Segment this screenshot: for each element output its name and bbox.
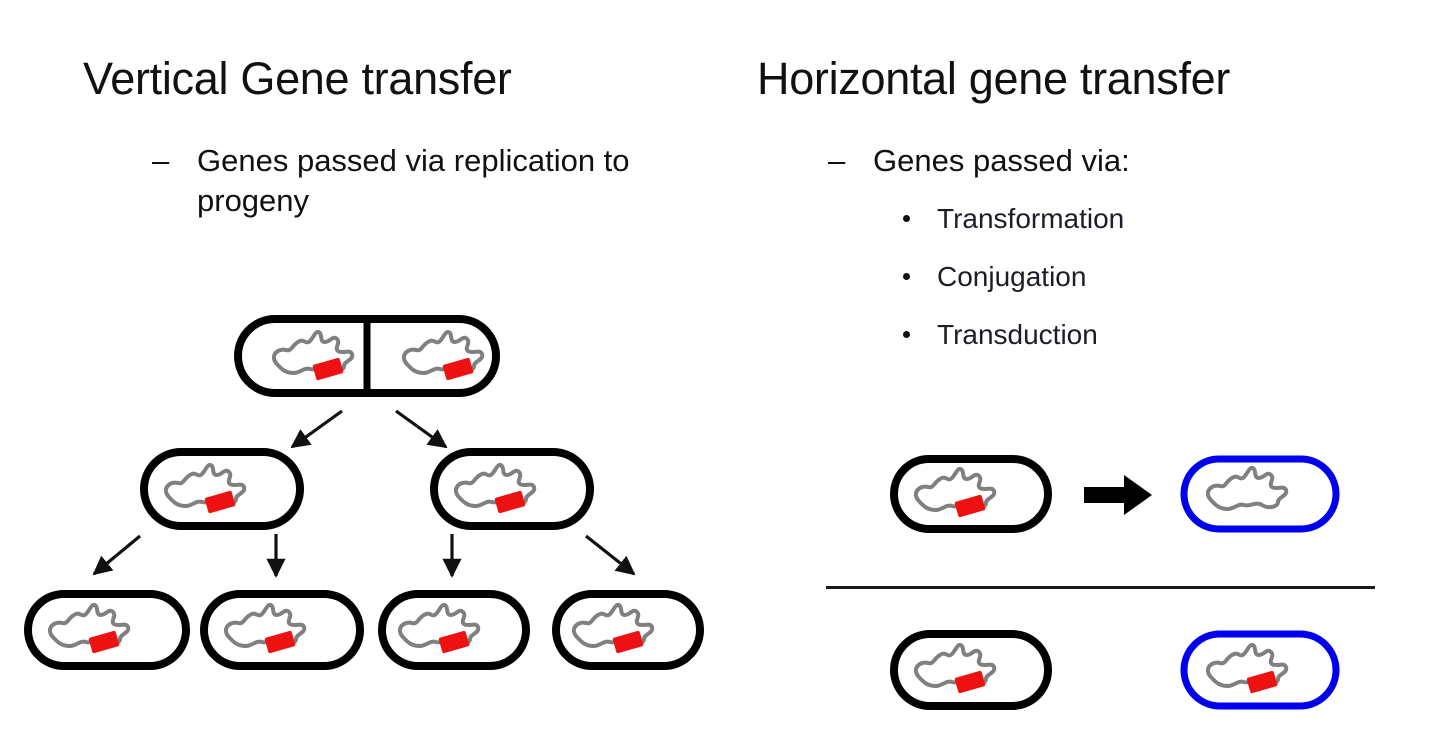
arrow-daughter-left-to-progeny-1: [82, 532, 152, 586]
recipient-after-svg: [1180, 630, 1340, 710]
bullet-label: Transformation: [937, 202, 1124, 236]
arrow-shape: [1084, 475, 1152, 515]
arrow-daughter-right-to-progeny-3: [440, 532, 464, 586]
bacterium-daughter-cell-left: [140, 448, 304, 530]
progeny-2-svg: [200, 590, 364, 670]
bullet-dot-icon: [903, 273, 910, 280]
bacterium-recipient-cell-after: [1180, 630, 1340, 710]
hgt-dash-label: Genes passed via:: [873, 141, 1130, 181]
bacterium-progeny-cell-1: [24, 590, 190, 670]
bullet-dot-icon: [903, 331, 910, 338]
bacterium-progeny-cell-2: [200, 590, 364, 670]
hgt-dash-bullet: – Genes passed via:: [828, 141, 1288, 181]
progeny-4-svg: [552, 590, 704, 670]
bacterium-progeny-cell-3: [378, 590, 530, 670]
donor-before-svg: [890, 455, 1052, 533]
slide-canvas: Vertical Gene transfer – Genes passed vi…: [0, 0, 1440, 748]
page-title-vertical-gene-transfer: Vertical Gene transfer: [83, 53, 512, 105]
list-item-transformation: Transformation: [903, 202, 1124, 236]
cell-wall-outline: [382, 594, 526, 666]
hgt-divider-rule: [826, 586, 1375, 589]
progeny-3-svg: [378, 590, 530, 670]
bacterium-donor-cell-before: [890, 455, 1052, 533]
progeny-1-svg: [24, 590, 190, 670]
bacterium-donor-cell-after: [890, 630, 1052, 710]
bacterium-progeny-cell-4: [552, 590, 704, 670]
dash-marker-icon: –: [828, 141, 845, 181]
bacterium-daughter-cell-right: [430, 448, 594, 530]
bullet-label: Transduction: [937, 318, 1098, 352]
list-item-transduction: Transduction: [903, 318, 1098, 352]
vgt-dash-label: Genes passed via replication to progeny: [197, 141, 657, 221]
bullet-label: Conjugation: [937, 260, 1086, 294]
daughter-left-svg: [140, 448, 304, 530]
dash-marker-icon: –: [152, 141, 169, 181]
list-item-conjugation: Conjugation: [903, 260, 1086, 294]
arrow-daughter-left-to-progeny-2: [264, 532, 288, 586]
parent-cell-svg: [234, 315, 500, 397]
donor-after-svg: [890, 630, 1052, 710]
bacterium-recipient-cell-before: [1180, 455, 1340, 533]
vgt-dash-bullet: – Genes passed via replication to progen…: [152, 141, 672, 221]
transfer-arrow-right-icon: [1082, 472, 1156, 518]
arrow-daughter-right-to-progeny-4: [578, 532, 648, 586]
daughter-right-svg: [430, 448, 594, 530]
page-title-horizontal-gene-transfer: Horizontal gene transfer: [757, 53, 1230, 105]
recipient-before-svg: [1180, 455, 1340, 533]
bacterium-parent-dividing-cell: [234, 315, 500, 397]
cell-wall-outline: [556, 594, 700, 666]
bullet-dot-icon: [903, 215, 910, 222]
